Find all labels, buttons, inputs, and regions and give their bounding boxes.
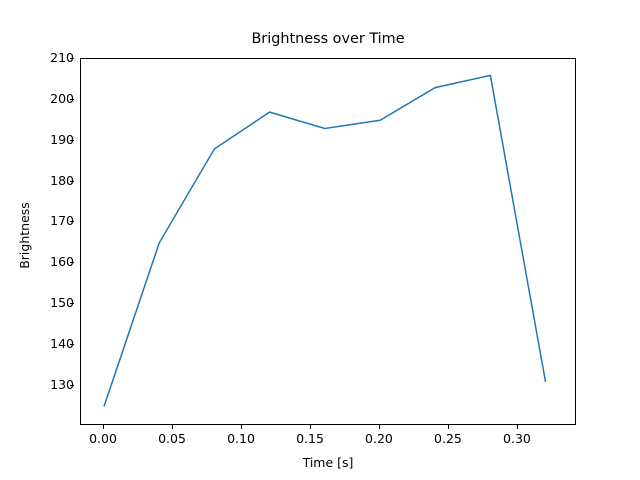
x-tick-label: 0.20 <box>349 433 409 446</box>
y-axis-label: Brightness <box>17 202 32 269</box>
x-tick-label: 0.00 <box>73 433 133 446</box>
x-tick-mark <box>517 425 518 429</box>
x-tick-mark <box>379 425 380 429</box>
x-tick-mark <box>448 425 449 429</box>
x-tick-mark <box>103 425 104 429</box>
x-tick-label: 0.15 <box>280 433 340 446</box>
x-tick-label: 0.30 <box>487 433 547 446</box>
chart-figure: Brightness over Time 1301401501601701801… <box>0 0 640 480</box>
x-tick-label: 0.25 <box>418 433 478 446</box>
x-tick-label: 0.05 <box>142 433 202 446</box>
x-axis-label: Time [s] <box>80 455 576 470</box>
x-tick-mark <box>172 425 173 429</box>
x-tick-label: 0.10 <box>211 433 271 446</box>
x-axis-ticks: 0.000.050.100.150.200.250.30 <box>0 0 640 480</box>
x-tick-mark <box>241 425 242 429</box>
x-tick-mark <box>310 425 311 429</box>
